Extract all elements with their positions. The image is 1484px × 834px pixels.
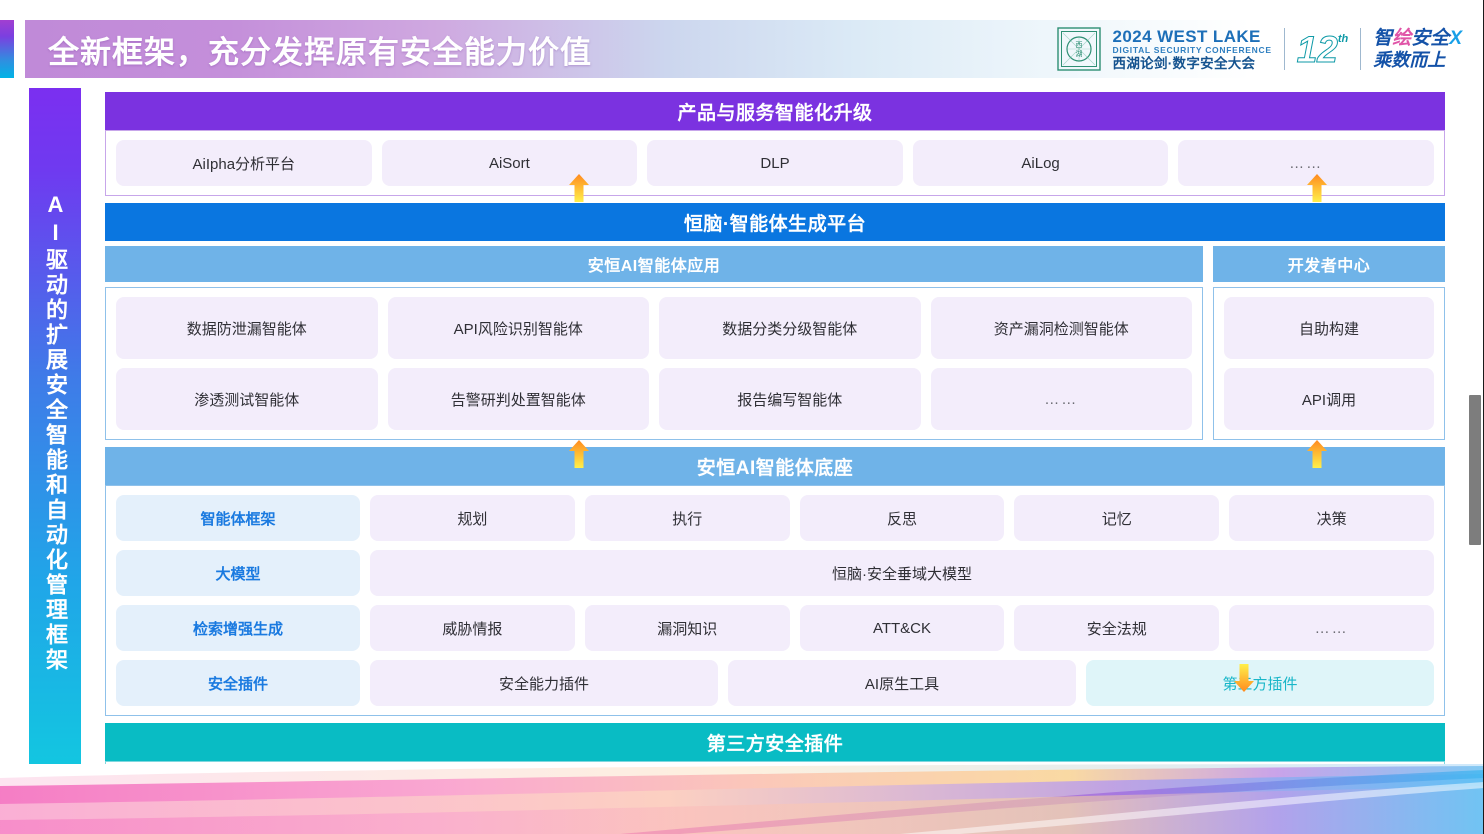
developer-row: 自助构建 xyxy=(1224,297,1434,359)
framework-diagram: 产品与服务智能化升级 AiIpha分析平台 AiSort DLP AiLog …… xyxy=(105,92,1445,827)
base-cell[interactable]: 决策 xyxy=(1229,495,1434,541)
conference-subtitle-en: DIGITAL SECURITY CONFERENCE xyxy=(1113,46,1272,55)
agent-app-item[interactable]: 渗透测试智能体 xyxy=(116,368,378,430)
scrollbar-thumb[interactable] xyxy=(1469,395,1481,545)
arrow-up-base-right xyxy=(1306,440,1328,468)
base-row-key[interactable]: 智能体框架 xyxy=(116,495,360,541)
product-item[interactable]: AiSort xyxy=(382,140,638,186)
base-cell[interactable]: 威胁情报 xyxy=(370,605,575,651)
logo-divider-2 xyxy=(1360,28,1361,70)
base-cell[interactable]: 记忆 xyxy=(1014,495,1219,541)
slogan-line-2: 乘数而上 xyxy=(1373,51,1462,69)
arrow-up-base-left xyxy=(568,440,590,468)
agent-apps-panel: 数据防泄漏智能体 API风险识别智能体 数据分类分级智能体 资产漏洞检测智能体 … xyxy=(105,287,1203,440)
arrow-down-thirdparty xyxy=(1233,664,1255,692)
product-panel: AiIpha分析平台 AiSort DLP AiLog …… xyxy=(105,130,1445,196)
developer-center-panel: 自助构建 API调用 xyxy=(1213,287,1445,440)
svg-text:西: 西 xyxy=(1075,41,1082,49)
page-title: 全新框架，充分发挥原有安全能力价值 xyxy=(48,20,592,78)
slogan-line-1: 智绘安全X xyxy=(1373,29,1462,48)
slide-root: 全新框架，充分发挥原有安全能力价值 西 湖 2024 WEST LAKE DIG… xyxy=(0,0,1484,834)
base-cell[interactable]: 恒脑·安全垂域大模型 xyxy=(370,550,1434,596)
edition-suffix: th xyxy=(1338,33,1348,45)
developer-item[interactable]: 自助构建 xyxy=(1224,297,1434,359)
section-band-agent-apps: 安恒AI智能体应用 xyxy=(105,246,1203,282)
base-row-key[interactable]: 大模型 xyxy=(116,550,360,596)
section-band-third-party: 第三方安全插件 xyxy=(105,723,1445,761)
arrow-up-product-left xyxy=(568,174,590,202)
section-band-developer-center: 开发者中心 xyxy=(1213,246,1445,282)
west-lake-seal-icon: 西 湖 xyxy=(1057,27,1101,71)
base-cell-more[interactable]: …… xyxy=(1229,605,1434,651)
agent-apps-column: 安恒AI智能体应用 数据防泄漏智能体 API风险识别智能体 数据分类分级智能体 … xyxy=(105,246,1203,440)
base-row-key[interactable]: 安全插件 xyxy=(116,660,360,706)
agent-app-item[interactable]: 数据分类分级智能体 xyxy=(659,297,921,359)
developer-item[interactable]: API调用 xyxy=(1224,368,1434,430)
base-row-large-model: 大模型 恒脑·安全垂域大模型 xyxy=(116,550,1434,596)
agent-apps-row: 渗透测试智能体 告警研判处置智能体 报告编写智能体 …… xyxy=(116,368,1192,430)
edition-badge: 12 th xyxy=(1297,31,1349,68)
base-cell[interactable]: 安全法规 xyxy=(1014,605,1219,651)
base-cell[interactable]: 规划 xyxy=(370,495,575,541)
agent-apps-row: 数据防泄漏智能体 API风险识别智能体 数据分类分级智能体 资产漏洞检测智能体 xyxy=(116,297,1192,359)
base-row-agent-framework: 智能体框架 规划 执行 反思 记忆 决策 xyxy=(116,495,1434,541)
agent-app-item[interactable]: 告警研判处置智能体 xyxy=(388,368,650,430)
developer-center-column: 开发者中心 自助构建 API调用 xyxy=(1213,246,1445,440)
bottom-decoration xyxy=(0,764,1484,834)
base-cell[interactable]: AI原生工具 xyxy=(728,660,1076,706)
base-cell[interactable]: 安全能力插件 xyxy=(370,660,718,706)
agent-app-item[interactable]: 报告编写智能体 xyxy=(659,368,921,430)
product-item[interactable]: AiIpha分析平台 xyxy=(116,140,372,186)
agent-app-item[interactable]: 资产漏洞检测智能体 xyxy=(931,297,1193,359)
base-row-key[interactable]: 检索增强生成 xyxy=(116,605,360,651)
base-cell[interactable]: 反思 xyxy=(800,495,1005,541)
section-band-platform: 恒脑·智能体生成平台 xyxy=(105,203,1445,241)
agent-app-item[interactable]: API风险识别智能体 xyxy=(388,297,650,359)
framework-rail-label: AI驱动的扩展安全智能和自动化管理框架 xyxy=(44,192,66,673)
agent-app-item-more[interactable]: …… xyxy=(931,368,1193,430)
product-item[interactable]: DLP xyxy=(647,140,903,186)
logo-divider-1 xyxy=(1284,28,1285,70)
agent-app-item[interactable]: 数据防泄漏智能体 xyxy=(116,297,378,359)
section-band-base: 安恒AI智能体底座 xyxy=(105,447,1445,485)
conference-subtitle-zh: 西湖论剑·数字安全大会 xyxy=(1113,57,1272,71)
conference-logo: 西 湖 2024 WEST LAKE DIGITAL SECURITY CONF… xyxy=(1057,22,1462,76)
base-cell[interactable]: 执行 xyxy=(585,495,790,541)
svg-text:湖: 湖 xyxy=(1075,49,1082,58)
conference-slogan: 智绘安全X 乘数而上 xyxy=(1373,29,1462,69)
developer-row: API调用 xyxy=(1224,368,1434,430)
base-cell[interactable]: ATT&CK xyxy=(800,605,1005,651)
conference-year-title: 2024 WEST LAKE xyxy=(1113,28,1272,45)
base-row-rag: 检索增强生成 威胁情报 漏洞知识 ATT&CK 安全法规 …… xyxy=(116,605,1434,651)
arrow-up-product-right xyxy=(1306,174,1328,202)
section-band-product: 产品与服务智能化升级 xyxy=(105,92,1445,130)
header-accent-bar xyxy=(0,20,14,78)
product-row: AiIpha分析平台 AiSort DLP AiLog …… xyxy=(116,140,1434,186)
framework-rail: AI驱动的扩展安全智能和自动化管理框架 xyxy=(29,88,81,776)
edition-number: 12 xyxy=(1297,31,1338,68)
base-cell-third-party-plugin[interactable]: 第三方插件 xyxy=(1086,660,1434,706)
base-cell[interactable]: 漏洞知识 xyxy=(585,605,790,651)
product-item[interactable]: AiLog xyxy=(913,140,1169,186)
conference-name: 2024 WEST LAKE DIGITAL SECURITY CONFEREN… xyxy=(1113,28,1272,70)
agent-section: 安恒AI智能体应用 数据防泄漏智能体 API风险识别智能体 数据分类分级智能体 … xyxy=(105,246,1445,440)
